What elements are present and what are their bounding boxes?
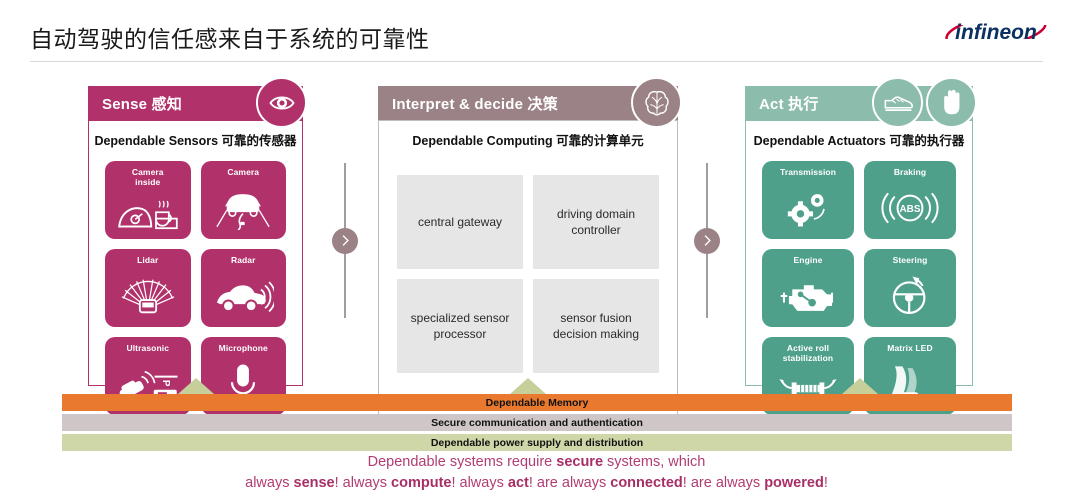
tile-label: Matrix LED (887, 344, 932, 354)
caption-line-1: Dependable systems require secure system… (0, 452, 1073, 473)
tile-steering[interactable]: Steering (864, 249, 956, 327)
tile-label: Camera (227, 168, 259, 178)
tile-label: Ultrasonic (126, 344, 169, 354)
sense-header-label: Sense 感知 (102, 93, 182, 114)
camera-icon (201, 178, 287, 239)
act-badges (872, 77, 977, 128)
tile-transmission[interactable]: Transmission (762, 161, 854, 239)
tile-label: Camerainside (132, 168, 164, 188)
compute-grid: central gateway driving domain controlle… (379, 149, 677, 389)
shoe-icon (872, 77, 923, 128)
eye-icon (256, 77, 307, 128)
act-header-label: Act 执行 (759, 93, 819, 114)
interpret-body: Dependable Computing 可靠的计算单元 central gat… (378, 120, 678, 422)
tile-label: Lidar (137, 256, 158, 266)
act-body: Dependable Actuators 可靠的执行器 Transmission (745, 120, 973, 386)
act-header: Act 执行 (745, 86, 973, 120)
svg-text:P: P (160, 380, 171, 387)
tile-lidar[interactable]: Lidar (105, 249, 191, 327)
tile-label: Braking (894, 168, 926, 178)
connector-interpret-to-act (692, 163, 722, 318)
tile-camera[interactable]: Camera (201, 161, 287, 239)
compute-box-driving-domain-controller[interactable]: driving domain controller (533, 175, 659, 269)
chevron-right-icon (332, 228, 358, 254)
interpret-header-label: Interpret & decide 决策 (392, 93, 558, 114)
infineon-logo: infineon (941, 8, 1051, 54)
camera-inside-icon (105, 188, 191, 239)
tile-label: Microphone (219, 344, 268, 354)
brain-icon (631, 77, 682, 128)
tile-camera-inside[interactable]: Camerainside (105, 161, 191, 239)
abs-brake-icon: ABS (864, 178, 956, 239)
panel-act: Act 执行 Dependable Actuators 可靠的执行器 Trans… (745, 86, 973, 386)
bar-dependable-memory[interactable]: Dependable Memory (62, 394, 1012, 411)
svg-text:ABS: ABS (900, 205, 921, 216)
page-title: 自动驾驶的信任感来自于系统的可靠性 (30, 20, 430, 54)
steering-wheel-icon (864, 266, 956, 327)
sense-header: Sense 感知 (88, 86, 303, 120)
hand-icon (926, 77, 977, 128)
footer-caption: Dependable systems require secure system… (0, 452, 1073, 494)
act-subtitle: Dependable Actuators 可靠的执行器 (746, 130, 972, 149)
title-divider (30, 61, 1043, 62)
bar-dependable-power[interactable]: Dependable power supply and distribution (62, 434, 1012, 451)
radar-icon (201, 266, 287, 327)
compute-box-central-gateway[interactable]: central gateway (397, 175, 523, 269)
tile-label: Radar (231, 256, 256, 266)
interpret-subtitle: Dependable Computing 可靠的计算单元 (379, 130, 677, 149)
compute-box-specialized-sensor-processor[interactable]: specialized sensor processor (397, 279, 523, 373)
interpret-badges (631, 77, 682, 128)
tile-label: Transmission (780, 168, 836, 178)
tile-label: Engine (794, 256, 823, 266)
interpret-header: Interpret & decide 决策 (378, 86, 678, 120)
caption-line-2: always sense! always compute! always act… (0, 473, 1073, 494)
tile-radar[interactable]: Radar (201, 249, 287, 327)
gears-icon (762, 178, 854, 239)
engine-icon (762, 266, 854, 327)
connector-sense-to-interpret (330, 163, 360, 318)
bar-secure-communication[interactable]: Secure communication and authentication (62, 414, 1012, 431)
tile-label: Active rollstabilization (783, 344, 833, 364)
lidar-icon (105, 266, 191, 327)
tile-label: Steering (893, 256, 928, 266)
sense-subtitle: Dependable Sensors 可靠的传感器 (89, 130, 302, 149)
svg-text:infineon: infineon (955, 21, 1037, 44)
panel-interpret: Interpret & decide 决策 Dependable Computi… (378, 86, 678, 422)
sense-body: Dependable Sensors 可靠的传感器 Camerainside (88, 120, 303, 386)
compute-box-sensor-fusion-decision-making[interactable]: sensor fusion decision making (533, 279, 659, 373)
tile-braking[interactable]: Braking ABS (864, 161, 956, 239)
sense-badges (256, 77, 307, 128)
panel-sense: Sense 感知 Dependable Sensors 可靠的传感器 Camer… (88, 86, 303, 386)
tile-engine[interactable]: Engine (762, 249, 854, 327)
chevron-right-icon (694, 228, 720, 254)
